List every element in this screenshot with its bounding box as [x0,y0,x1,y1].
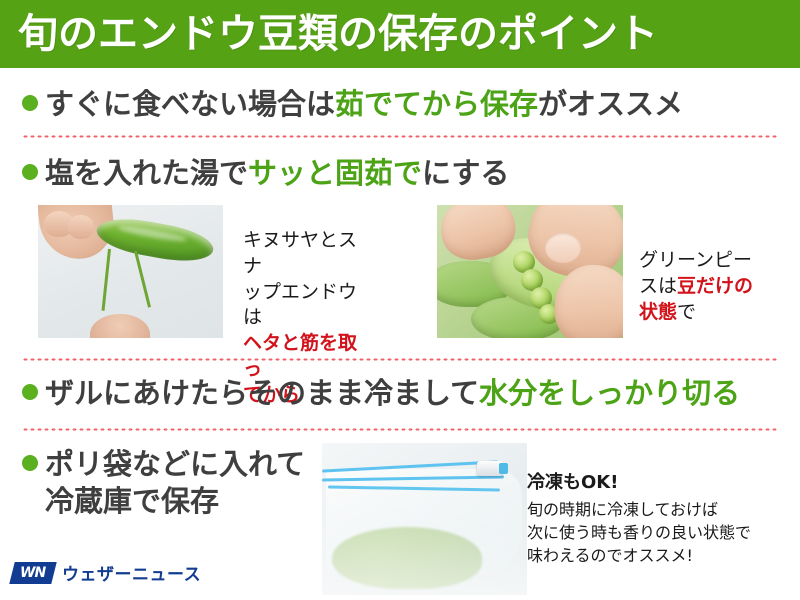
caption-right-line-3-tail: で [677,301,696,323]
bullet-2-seg-1: 塩を入れた湯で [45,156,248,190]
separator-2 [22,358,778,361]
pod-string-shape [134,251,151,308]
logo-label: ウェザーニュース [62,560,201,585]
bullet-item-2: 塩を入れた湯でサッと固茹でにする [22,155,509,192]
zip-slider-shape [477,461,503,476]
page-title: 旬のエンドウ豆類の保存のポイント [0,14,658,54]
bullet-item-3: ザルにあけたらそのまま冷まして水分をしっかり切る [22,375,740,412]
bullet-1-seg-2: 茹でてから保存 [335,87,538,121]
bullet-text-4: ポリ袋などに入れて 冷蔵庫で保存 [45,446,305,520]
bullet-1-seg-3: がオススメ [538,87,683,121]
caption-right: グリーンピー スは豆だけの 状態で [639,248,791,325]
caption-right-line-2-tail: 豆だけの [677,275,753,297]
pea-pod-shape [94,213,216,267]
caption-left-line-2: ップエンドウは [243,280,373,332]
weathernews-logo: WN ウェザーニュース [12,560,201,585]
wn-mark-text: WN [20,565,45,581]
bullet-4-line-1: ポリ袋などに入れて [45,446,305,483]
pod-string-shape [102,249,111,311]
bullet-text-1: すぐに食べない場合は茹でてから保存がオススメ [45,86,683,123]
bullet-text-2: 塩を入れた湯でサッと固茹でにする [45,155,509,192]
lower-hand-shape [90,314,150,338]
wn-mark-icon: WN [9,562,56,584]
freeze-note: 冷凍もOK! 旬の時期に冷凍しておけば 次に使う時も香りの良い状態で 味わえるの… [527,468,793,568]
bullet-1-seg-1: すぐに食べない場合は [45,87,335,121]
caption-right-line-2-head: スは [639,275,677,297]
shelling-green-peas-photo [437,205,623,338]
infographic-page: 旬のエンドウ豆類の保存のポイント すぐに食べない場合は茹でてから保存がオススメ … [0,0,800,600]
bullet-dot-icon [22,164,38,180]
snap-pea-destringing-photo [38,205,223,338]
bullet-dot-icon [22,384,38,400]
bullet-item-1: すぐに食べない場合は茹でてから保存がオススメ [22,86,683,123]
caption-right-line-3: 状態で [639,300,791,326]
bullet-2-seg-2: サッと固茹で [248,156,422,190]
bullet-dot-icon [22,95,38,111]
bullet-4-line-2: 冷蔵庫で保存 [45,483,305,520]
freeze-note-line-3: 味わえるのでオススメ! [527,544,793,567]
header-banner: 旬のエンドウ豆類の保存のポイント [0,0,800,68]
bullet-text-3: ザルにあけたらそのまま冷まして水分をしっかり切る [45,375,740,412]
freeze-note-title: 冷凍もOK! [527,468,793,494]
fingernail-shape [545,233,581,263]
caption-right-line-1: グリーンピー [639,248,791,274]
separator-1 [22,135,778,138]
bullet-3-seg-2: 水分をしっかり切る [479,376,740,410]
caption-right-line-3-head: 状態 [639,301,677,323]
separator-3 [22,428,778,431]
bullet-item-4: ポリ袋などに入れて 冷蔵庫で保存 [22,446,305,520]
caption-right-line-2: スは豆だけの [639,274,791,300]
finger-shape [68,215,94,239]
zip-bag-frozen-peas-photo [322,443,527,595]
bullet-2-seg-3: にする [422,156,509,190]
freeze-note-line-1: 旬の時期に冷凍しておけば [527,498,793,521]
bullet-3-seg-1: ザルにあけたらそのまま冷まして [45,376,479,410]
freeze-note-line-2: 次に使う時も香りの良い状態で [527,521,793,544]
caption-left-line-1: キヌサヤとスナ [243,228,373,280]
bullet-dot-icon [22,455,38,471]
frost-overlay [322,483,527,595]
